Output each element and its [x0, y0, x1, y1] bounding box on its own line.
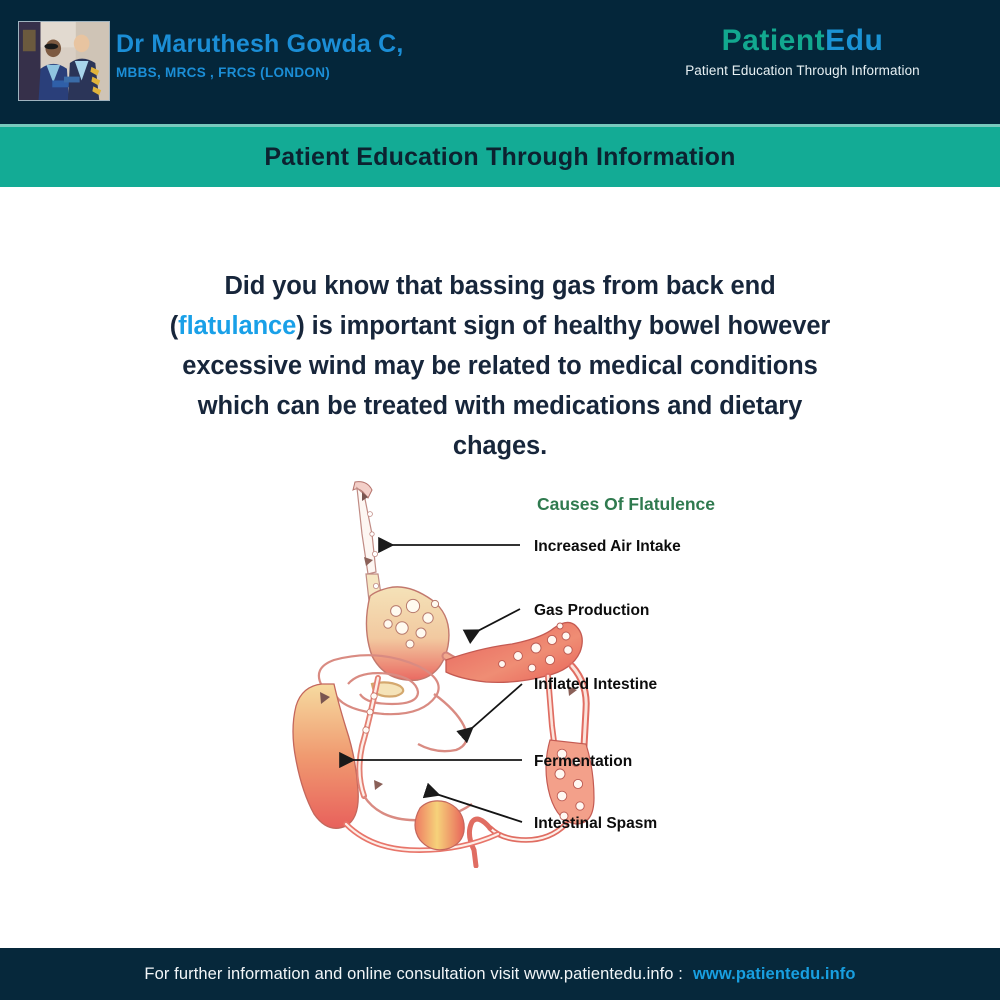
- brand-tagline: Patient Education Through Information: [605, 63, 1000, 78]
- page-footer: For further information and online consu…: [0, 948, 1000, 1000]
- body-line-1: Did you know that bassing gas from back …: [224, 272, 775, 300]
- footer-text: For further information and online consu…: [144, 965, 683, 984]
- body-line-4: which can be treated with medications an…: [198, 392, 802, 420]
- flatulence-diagram: Causes Of Flatulence: [250, 478, 770, 868]
- body-line-2-open-paren: (: [170, 312, 178, 340]
- label-gas-production: Gas Production: [534, 602, 649, 619]
- body-paragraph: Did you know that bassing gas from back …: [100, 266, 900, 466]
- page-header: Dr Maruthesh Gowda C, MBBS, MRCS , FRCS …: [0, 0, 1000, 124]
- label-intestinal-spasm: Intestinal Spasm: [534, 815, 657, 832]
- flatulance-highlight: flatulance: [178, 312, 296, 340]
- brand-title-patient: Patient: [722, 24, 826, 57]
- body-line-3: excessive wind may be related to medical…: [182, 352, 817, 380]
- brand-title-edu: Edu: [825, 24, 883, 57]
- banner-strip: Patient Education Through Information: [0, 127, 1000, 187]
- label-inflated-intestine: Inflated Intestine: [534, 676, 658, 693]
- brand-title: PatientEdu: [605, 24, 1000, 58]
- banner-title: Patient Education Through Information: [264, 143, 735, 172]
- label-fermentation: Fermentation: [534, 753, 632, 770]
- diagram-title-text: Causes Of Flatulence: [537, 494, 715, 514]
- digestive-tract-illustration: Causes Of Flatulence: [250, 478, 770, 868]
- label-increased-air-intake: Increased Air Intake: [534, 538, 681, 555]
- brand-logo: PatientEdu Patient Education Through Inf…: [0, 24, 1000, 78]
- poster-page: Dr Maruthesh Gowda C, MBBS, MRCS , FRCS …: [0, 0, 1000, 1000]
- body-line-5: chages.: [453, 432, 547, 460]
- body-line-2-rest: ) is important sign of healthy bowel how…: [296, 312, 830, 340]
- leader-line-gas-production: [468, 609, 520, 636]
- footer-website-link[interactable]: www.patientedu.info: [693, 965, 856, 984]
- leader-line-inflated-intestine: [463, 684, 522, 736]
